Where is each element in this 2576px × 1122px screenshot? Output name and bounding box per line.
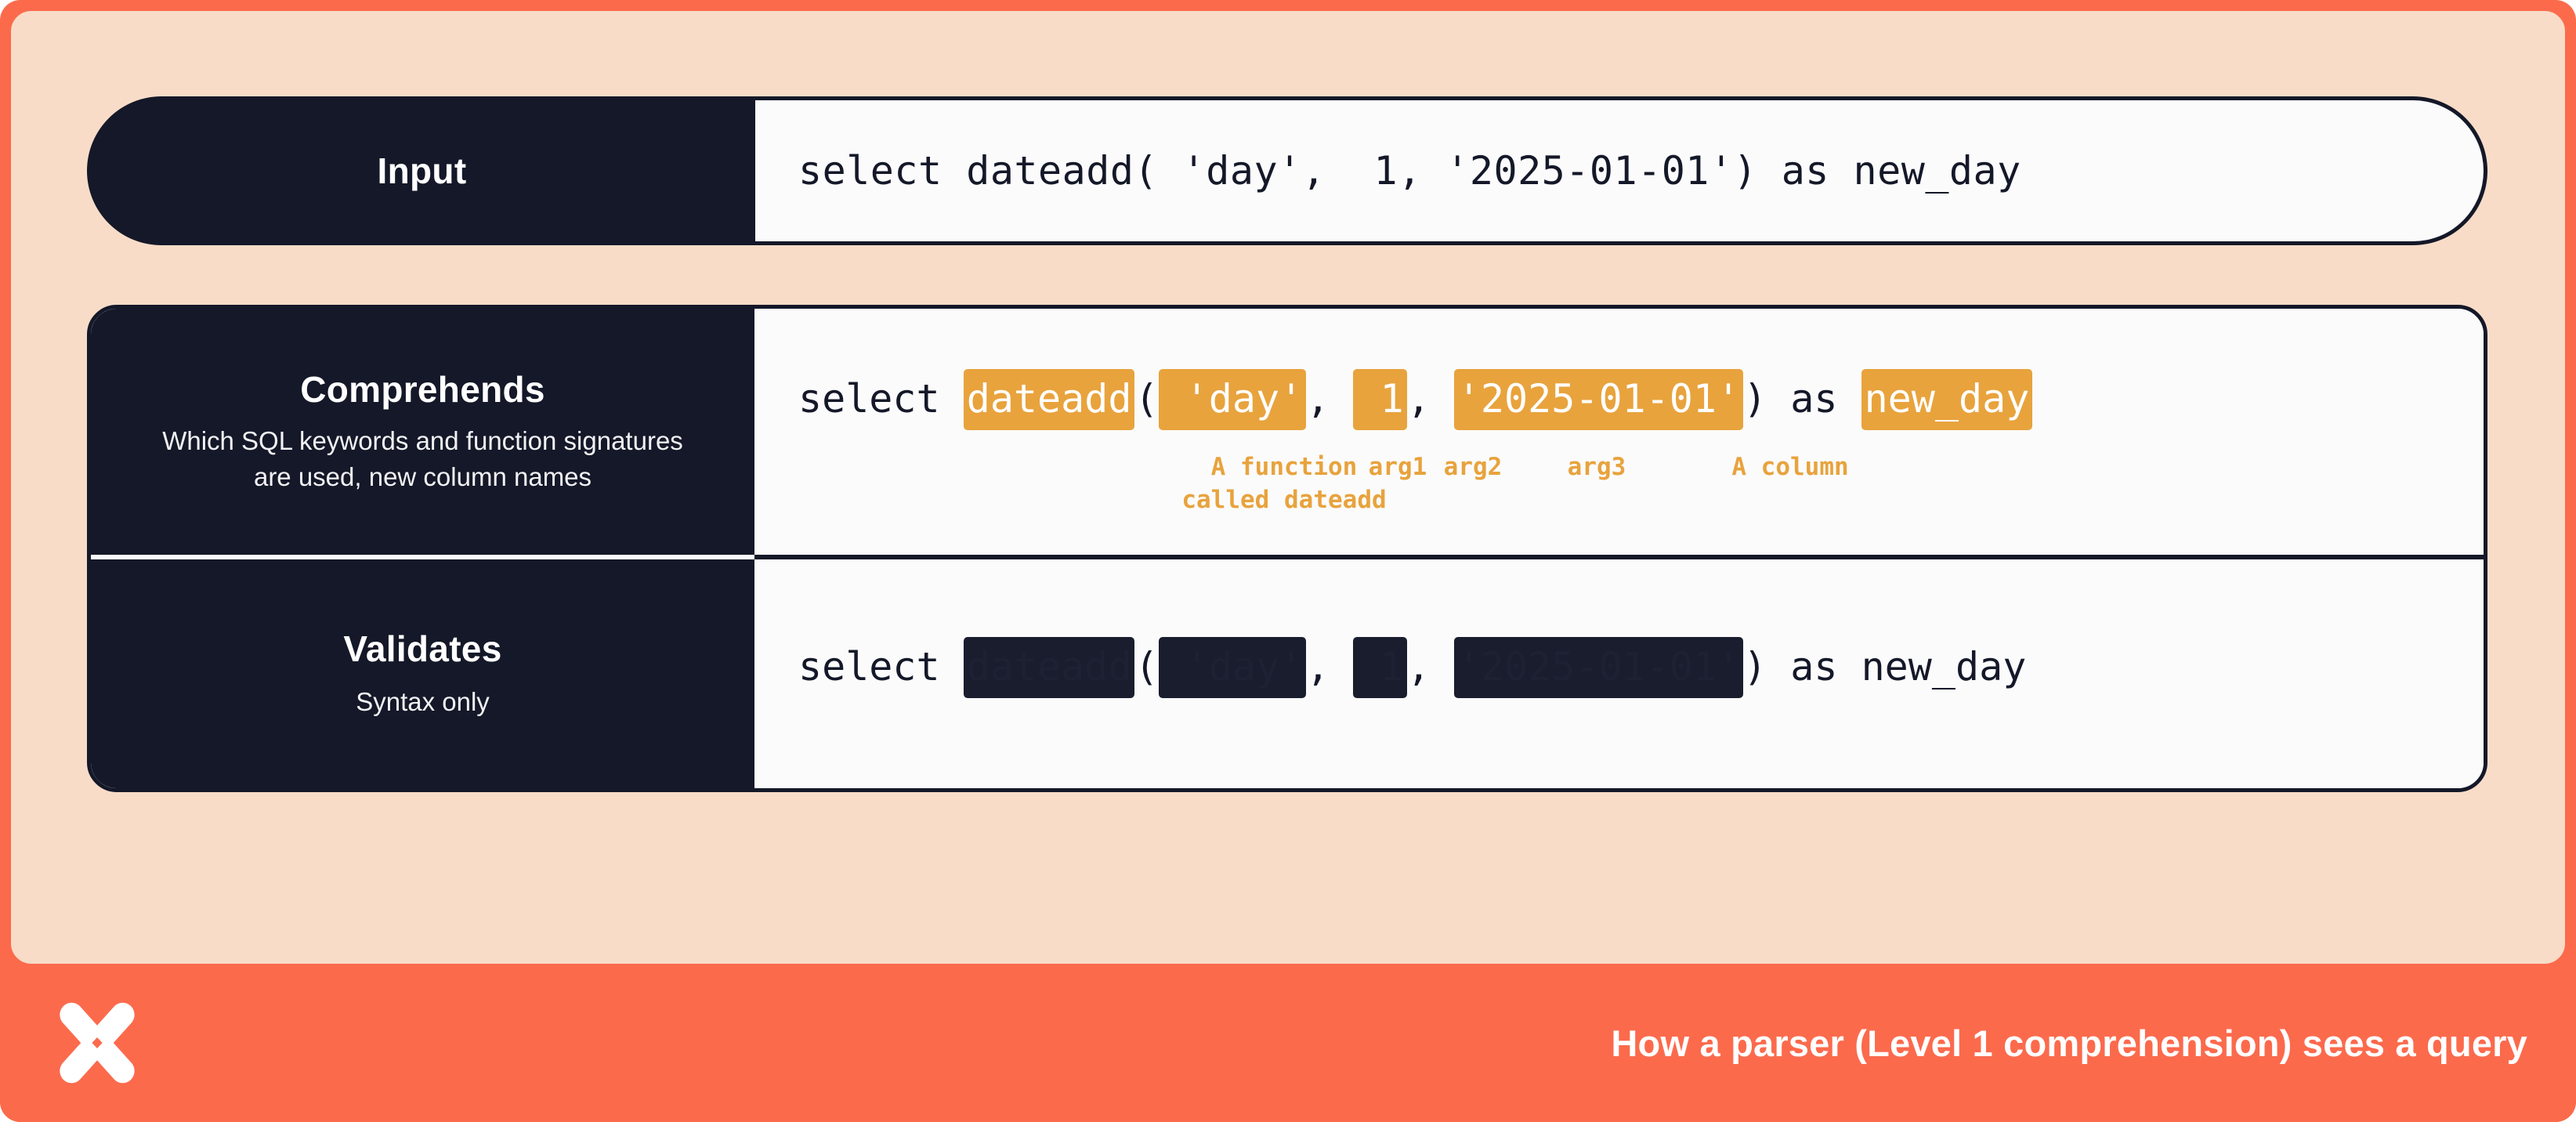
validates-row: Validates Syntax only select dateadd( 'd… <box>91 559 2484 788</box>
x-mark-logo <box>47 993 147 1093</box>
validates-code-cell: select dateadd( 'day', 1, '2025-01-01') … <box>754 559 2484 788</box>
code-token-8: ) as <box>1743 376 1861 422</box>
input-label-cell: Input <box>87 96 757 245</box>
code-token-5: 1 <box>1353 369 1406 430</box>
annotation-3: arg3 <box>1568 451 1626 484</box>
code-token-0: select <box>798 376 964 422</box>
code-token-8: ) as new_day <box>1743 644 2026 689</box>
content-panel: Input select dateadd( 'day', 1, '2025-01… <box>11 11 2565 964</box>
figure-root: Input select dateadd( 'day', 1, '2025-01… <box>0 0 2576 1122</box>
validates-code-text: select dateadd( 'day', 1, '2025-01-01') … <box>798 644 2026 689</box>
comprehends-annotations: A function called dateaddarg1arg2arg3A c… <box>798 451 2444 537</box>
code-token-1: dateadd <box>964 637 1135 698</box>
input-row: Input select dateadd( 'day', 1, '2025-01… <box>87 96 2487 245</box>
code-token-6: , <box>1407 644 1454 689</box>
code-token-3: 'day' <box>1159 369 1307 430</box>
annotation-0: A function called dateadd <box>1181 451 1386 517</box>
code-token-5: 1 <box>1353 637 1406 698</box>
comprehends-sublabel: Which SQL keywords and function signatur… <box>149 423 697 494</box>
rows-container: Input select dateadd( 'day', 1, '2025-01… <box>87 96 2487 792</box>
input-code-text: select dateadd( 'day', 1, '2025-01-01') … <box>755 148 2021 194</box>
comprehends-label: Comprehends <box>300 368 545 411</box>
annotation-2: arg2 <box>1444 451 1503 484</box>
code-token-1: dateadd <box>964 369 1135 430</box>
code-token-2: ( <box>1134 376 1158 422</box>
validates-sublabel: Syntax only <box>356 684 490 720</box>
code-token-2: ( <box>1134 644 1158 689</box>
code-token-4: , <box>1306 376 1353 422</box>
code-token-9: new_day <box>1861 369 2033 430</box>
comprehends-label-cell: Comprehends Which SQL keywords and funct… <box>91 309 754 555</box>
code-token-3: 'day' <box>1159 637 1307 698</box>
comprehends-validates-card: Comprehends Which SQL keywords and funct… <box>87 305 2487 792</box>
code-token-7: '2025-01-01' <box>1454 637 1743 698</box>
validates-label: Validates <box>343 628 501 670</box>
annotation-1: arg1 <box>1369 451 1427 484</box>
validates-label-cell: Validates Syntax only <box>91 559 754 788</box>
input-code-cell: select dateadd( 'day', 1, '2025-01-01') … <box>755 96 2487 245</box>
code-token-0: select <box>798 644 964 689</box>
input-label: Input <box>378 150 467 192</box>
annotation-4: A column <box>1731 451 1848 484</box>
comprehends-row: Comprehends Which SQL keywords and funct… <box>91 309 2484 555</box>
bottom-banner: How a parser (Level 1 comprehension) see… <box>0 964 2576 1122</box>
comprehends-code-text: select dateadd( 'day', 1, '2025-01-01') … <box>798 376 2032 422</box>
code-token-7: '2025-01-01' <box>1454 369 1743 430</box>
code-token-4: , <box>1306 644 1353 689</box>
code-token-6: , <box>1407 376 1454 422</box>
comprehends-code-cell: select dateadd( 'day', 1, '2025-01-01') … <box>754 309 2484 555</box>
banner-caption: How a parser (Level 1 comprehension) see… <box>1611 1022 2527 1065</box>
